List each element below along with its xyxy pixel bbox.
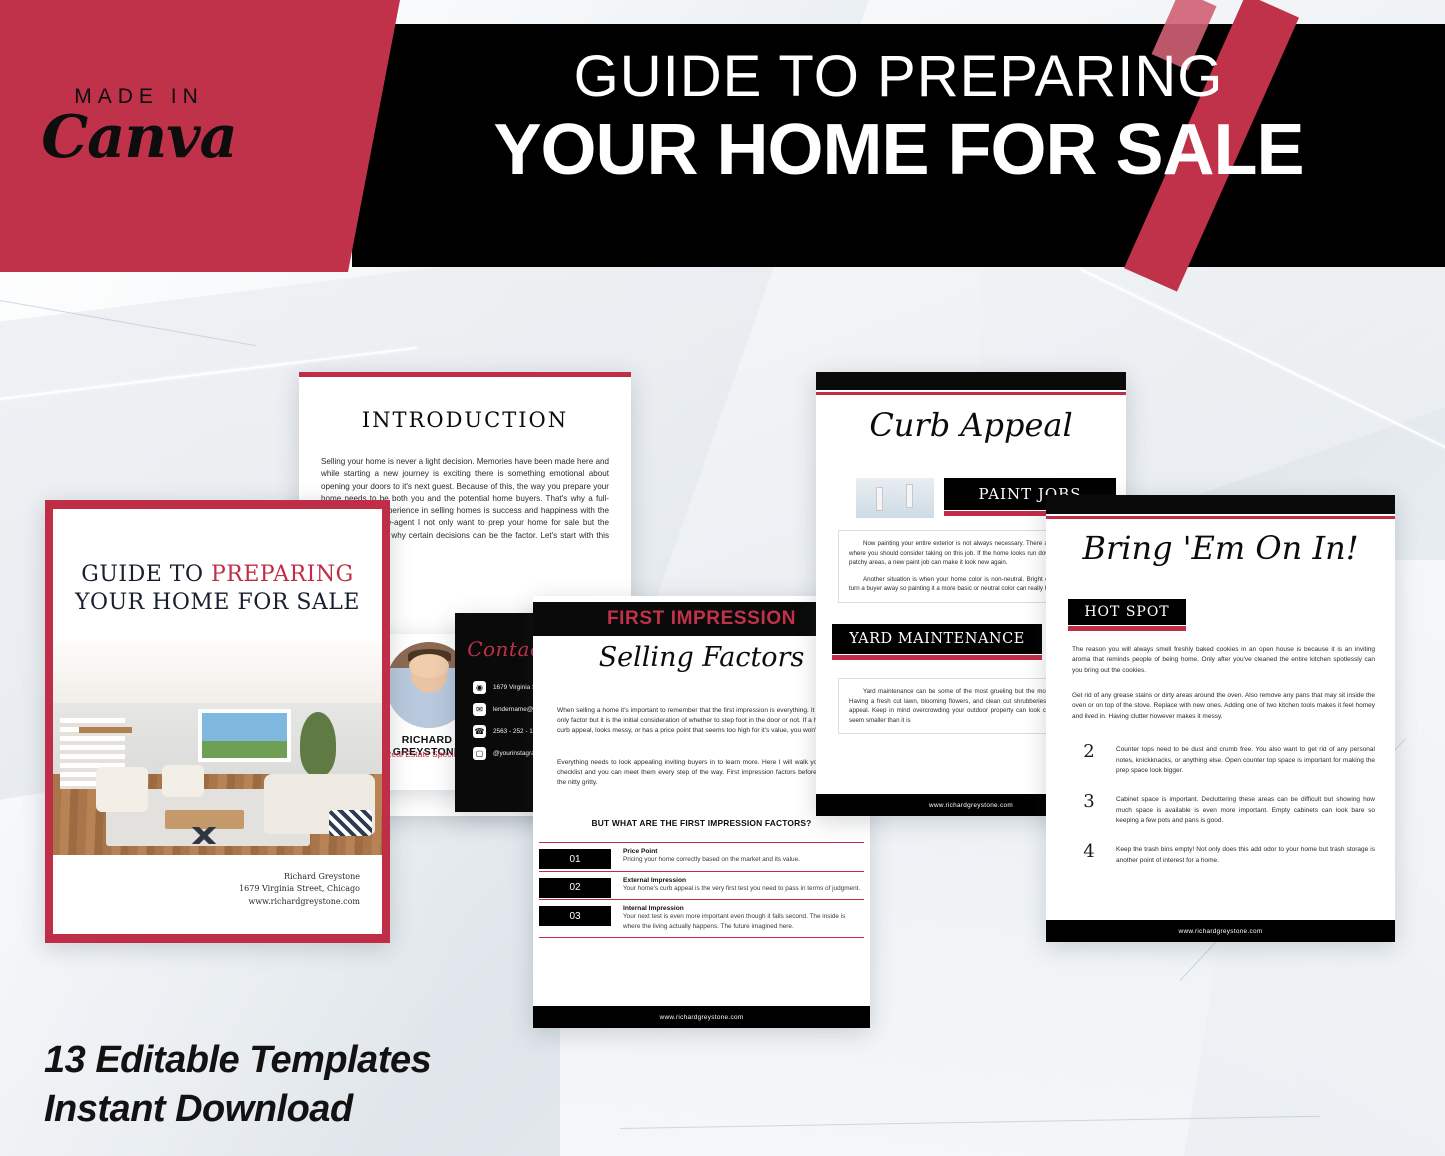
kitchen-top-red-rule <box>1046 516 1395 519</box>
cover-title-line2: YOUR HOME FOR SALE <box>75 590 360 615</box>
phone-icon: ☎ <box>473 725 486 738</box>
intro-heading: INTRODUCTION <box>299 408 631 432</box>
promo-text: 13 Editable Templates Instant Download <box>44 1036 431 1133</box>
first-impression-question: BUT WHAT ARE THE FIRST IMPRESSION FACTOR… <box>533 818 870 828</box>
curb-top-red-rule <box>816 392 1126 395</box>
tip-number: 4 <box>1072 841 1106 862</box>
page-footer-url: www.richardgreystone.com <box>1046 920 1395 942</box>
canva-wordmark: Canva <box>34 109 244 165</box>
cover-footer-site: www.richardgreystone.com <box>53 896 360 908</box>
first-impression-paragraph-1: When selling a home it's important to re… <box>557 706 852 737</box>
tip-number: 3 <box>1072 791 1106 812</box>
tip-text: Keep the trash bins empty! Not only does… <box>1116 845 1375 866</box>
table-row[interactable]: 03 Internal Impression Your next test is… <box>539 899 864 938</box>
kitchen-paragraph-1: The reason you will always smell freshly… <box>1072 645 1375 676</box>
factor-number: 01 <box>539 849 611 869</box>
header-title: GUIDE TO PREPARING YOUR HOME FOR SALE <box>352 46 1445 188</box>
yard-maintenance-red-underline <box>832 655 1042 660</box>
list-item[interactable]: 3 Cabinet space is important. Declutteri… <box>1072 795 1375 829</box>
tip-text: Counter tops need to be dust and crumb f… <box>1116 745 1375 777</box>
paint-roller-photo <box>856 478 934 518</box>
first-impression-paragraph-2: Everything needs to look appealing invit… <box>557 758 852 789</box>
cover-footer-name: Richard Greystone <box>53 871 360 883</box>
cover-title-highlight: PREPARING <box>211 562 354 587</box>
hot-spot-label: HOT SPOT <box>1068 599 1186 625</box>
factor-title: Internal Impression <box>623 905 864 912</box>
factor-desc: Pricing your home correctly based on the… <box>623 855 864 865</box>
table-row[interactable]: 02 External Impression Your home's curb … <box>539 871 864 900</box>
tip-text: Cabinet space is important. Decluttering… <box>1116 795 1375 827</box>
envelope-icon: ✉ <box>473 703 486 716</box>
made-in-canva-badge: MADE IN Canva <box>34 86 244 165</box>
factor-title: Price Point <box>623 848 864 855</box>
page-footer-url: www.richardgreystone.com <box>533 1006 870 1028</box>
factor-desc: Your home's curb appeal is the very firs… <box>623 884 864 894</box>
cover-title-part1: GUIDE TO <box>81 562 211 587</box>
list-item[interactable]: 4 Keep the trash bins empty! Not only do… <box>1072 845 1375 879</box>
first-impression-factor-list: 01 Price Point Pricing your home correct… <box>539 842 864 938</box>
promo-line-1: 13 Editable Templates <box>44 1036 431 1085</box>
cover-title: GUIDE TO PREPARING YOUR HOME FOR SALE <box>67 561 368 617</box>
template-page-cover[interactable]: GUIDE TO PREPARING YOUR HOME FOR SALE Ri… <box>45 500 390 943</box>
curb-top-black-bar <box>816 372 1126 390</box>
factor-number: 02 <box>539 878 611 898</box>
table-row[interactable]: 01 Price Point Pricing your home correct… <box>539 842 864 871</box>
instagram-icon: ▢ <box>473 747 486 760</box>
kitchen-top-black-bar <box>1046 495 1395 514</box>
factor-desc: Your next test is even more important ev… <box>623 912 864 931</box>
poster-canvas: MADE IN Canva GUIDE TO PREPARING YOUR HO… <box>0 0 1445 1156</box>
factor-title: External Impression <box>623 877 864 884</box>
curb-appeal-script-title: Curb Appeal <box>816 406 1126 444</box>
kitchen-paragraph-2: Get rid of any grease stains or dirty ar… <box>1072 691 1375 722</box>
cover-living-room-photo <box>53 641 382 855</box>
tip-number: 2 <box>1072 741 1106 762</box>
promo-line-2: Instant Download <box>44 1085 431 1134</box>
factor-number: 03 <box>539 906 611 926</box>
cover-footer: Richard Greystone 1679 Virginia Street, … <box>53 871 360 908</box>
header-title-line1: GUIDE TO PREPARING <box>352 46 1445 109</box>
cover-footer-address: 1679 Virginia Street, Chicago <box>53 883 360 895</box>
template-page-bring-em-on-in[interactable]: Bring 'Em On In! HOT SPOT The reason you… <box>1046 495 1395 942</box>
kitchen-script-title: Bring 'Em On In! <box>1046 529 1395 567</box>
list-item[interactable]: 2 Counter tops need to be dust and crumb… <box>1072 745 1375 779</box>
location-pin-icon: ◉ <box>473 681 486 694</box>
kitchen-tip-list: 2 Counter tops need to be dust and crumb… <box>1072 745 1375 895</box>
intro-top-red-rule <box>299 372 631 377</box>
yard-maintenance-label: YARD MAINTENANCE <box>832 624 1042 654</box>
header-title-line2: YOUR HOME FOR SALE <box>352 113 1445 188</box>
cover-inner: GUIDE TO PREPARING YOUR HOME FOR SALE Ri… <box>53 509 382 934</box>
hot-spot-red-underline <box>1068 626 1186 631</box>
